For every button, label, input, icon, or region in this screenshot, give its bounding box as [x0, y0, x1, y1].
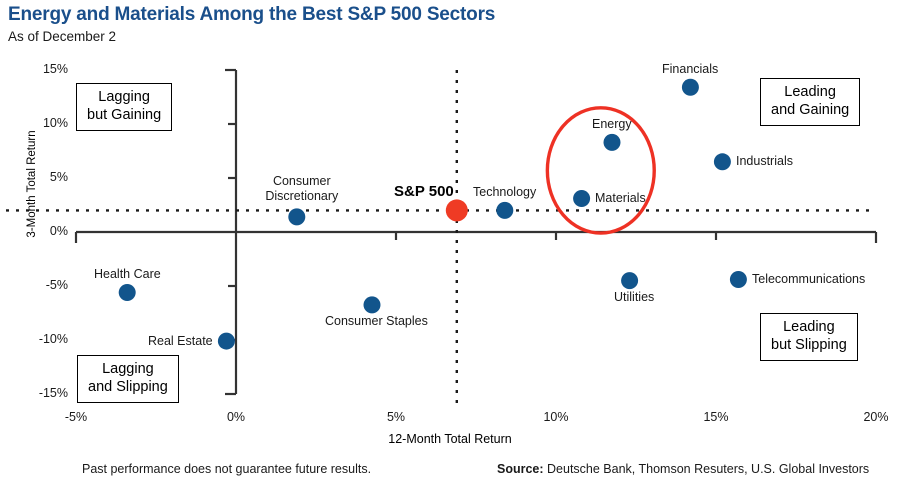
y-tick-label: -15% [8, 386, 68, 400]
data-point [288, 208, 305, 225]
source-text: Deutsche Bank, Thomson Resuters, U.S. Gl… [544, 462, 870, 476]
point-label: Materials [595, 191, 646, 206]
quadrant-line-1: Leading [771, 319, 847, 337]
x-axis-title: 12-Month Total Return [0, 432, 900, 446]
y-tick-label: 0% [8, 224, 68, 238]
source-label: Source: [497, 462, 544, 476]
x-tick-label: 0% [206, 410, 266, 424]
disclaimer-note: Past performance does not guarantee futu… [82, 462, 371, 476]
quadrant-line-2: but Gaining [87, 107, 161, 125]
point-label: S&P 500 [394, 183, 454, 200]
data-point [119, 284, 136, 301]
y-tick-label: 5% [8, 170, 68, 184]
point-label: Technology [473, 185, 536, 200]
point-label: Consumer Staples [325, 314, 428, 329]
y-tick-label: -10% [8, 332, 68, 346]
quadrant-line-2: but Slipping [771, 337, 847, 355]
data-point [496, 202, 513, 219]
data-point [621, 272, 638, 289]
scatter-plot: 15%10%5%0%-5%-10%-15% -5%0%5%10%15%20% F… [0, 0, 900, 492]
quadrant-line-1: Lagging [88, 361, 168, 379]
data-point [218, 333, 235, 350]
data-point [730, 271, 747, 288]
y-tick-label: -5% [8, 278, 68, 292]
point-label: Health Care [94, 267, 161, 282]
quadrant-label-leading-slipping: Leadingbut Slipping [760, 313, 858, 361]
chart-page: Energy and Materials Among the Best S&P … [0, 0, 900, 492]
quadrant-label-lagging-gaining: Laggingbut Gaining [76, 83, 172, 131]
quadrant-line-2: and Gaining [771, 102, 849, 120]
point-label: Telecommunications [752, 272, 865, 287]
point-label: Industrials [736, 154, 793, 169]
data-point [714, 153, 731, 170]
data-point [364, 296, 381, 313]
point-label: Financials [662, 62, 718, 77]
quadrant-line-2: and Slipping [88, 379, 168, 397]
quadrant-label-leading-gaining: Leadingand Gaining [760, 78, 860, 126]
point-label: Energy [592, 117, 632, 132]
quadrant-line-1: Leading [771, 84, 849, 102]
y-tick-label: 15% [8, 62, 68, 76]
quadrant-label-lagging-slipping: Laggingand Slipping [77, 355, 179, 403]
data-points-layer [119, 79, 747, 350]
y-axis-title: 3-Month Total Return [26, 104, 38, 264]
source-note: Source: Deutsche Bank, Thomson Resuters,… [497, 462, 869, 476]
x-tick-label: 10% [526, 410, 586, 424]
point-label: Real Estate [148, 334, 213, 349]
data-point [682, 79, 699, 96]
x-tick-label: 20% [846, 410, 900, 424]
point-label: ConsumerDiscretionary [246, 174, 358, 203]
data-point [604, 134, 621, 151]
x-tick-label: 15% [686, 410, 746, 424]
y-tick-label: 10% [8, 116, 68, 130]
point-label: Utilities [614, 290, 654, 305]
quadrant-line-1: Lagging [87, 89, 161, 107]
x-tick-label: -5% [46, 410, 106, 424]
chart-canvas [0, 0, 900, 492]
data-point [573, 190, 590, 207]
benchmark-point [446, 199, 468, 221]
x-tick-label: 5% [366, 410, 426, 424]
